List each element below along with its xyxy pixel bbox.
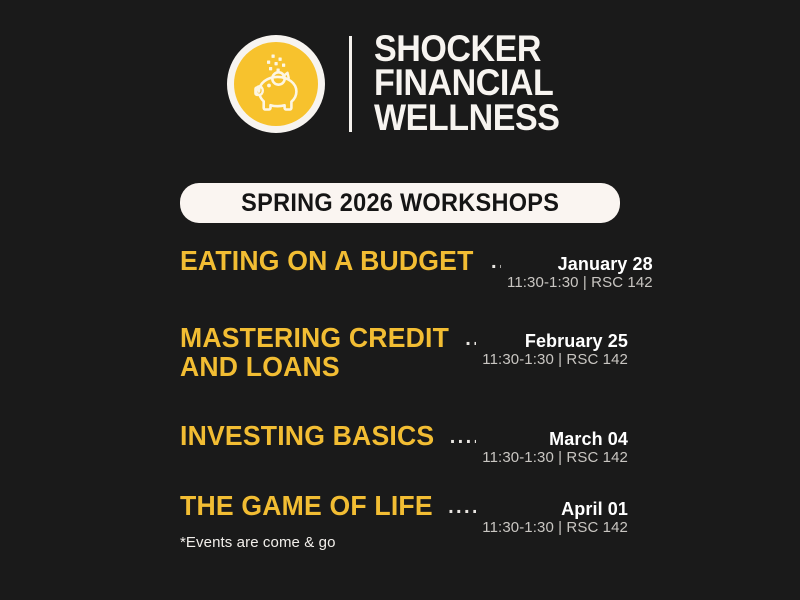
workshop-flyer: SHOCKER FINANCIAL WELLNESS SPRING 2026 W… <box>0 0 800 600</box>
list-item: MASTERING CREDIT AND LOANS .............… <box>180 323 628 381</box>
wordmark-line-1: SHOCKER <box>374 32 559 66</box>
event-time-location: 11:30-1:30 | RSC 142 <box>482 351 628 368</box>
event-title: EATING ON A BUDGET <box>180 246 474 275</box>
event-title: THE GAME OF LIFE <box>180 491 433 520</box>
title-banner: SPRING 2026 WORKSHOPS <box>180 183 620 223</box>
event-time-location: 11:30-1:30 | RSC 142 <box>507 274 653 291</box>
event-title-line-2: AND LOANS <box>180 352 449 381</box>
event-date: January 28 <box>507 255 653 274</box>
brand-wordmark: SHOCKER FINANCIAL WELLNESS <box>374 32 576 135</box>
list-item: INVESTING BASICS ............ March 04 1… <box>180 421 628 466</box>
event-date: April 01 <box>482 500 628 519</box>
event-meta: April 01 11:30-1:30 | RSC 142 <box>482 500 628 536</box>
header-logo-lockup: SHOCKER FINANCIAL WELLNESS <box>0 32 800 135</box>
footnote: *Events are come & go <box>180 534 336 551</box>
event-title: INVESTING BASICS <box>180 421 434 450</box>
event-meta: February 25 11:30-1:30 | RSC 142 <box>482 332 628 368</box>
dot-leader: ........ <box>491 252 501 272</box>
brand-lockup: SHOCKER FINANCIAL WELLNESS <box>225 32 576 135</box>
wordmark-line-3: WELLNESS <box>374 101 559 135</box>
event-date: February 25 <box>482 332 628 351</box>
list-item: EATING ON A BUDGET ........ January 28 1… <box>180 246 628 291</box>
wordmark-line-2: FINANCIAL <box>374 66 559 100</box>
list-item: THE GAME OF LIFE ............. April 01 … <box>180 491 628 536</box>
event-meta: January 28 11:30-1:30 | RSC 142 <box>507 255 653 291</box>
event-meta: March 04 11:30-1:30 | RSC 142 <box>482 430 628 466</box>
event-time-location: 11:30-1:30 | RSC 142 <box>482 519 628 536</box>
dot-leader: ............. <box>448 497 476 517</box>
event-time-location: 11:30-1:30 | RSC 142 <box>482 449 628 466</box>
event-date: March 04 <box>482 430 628 449</box>
banner-title: SPRING 2026 WORKSHOPS <box>241 189 559 218</box>
dot-leader: ...................... <box>465 329 476 349</box>
event-title-line-1: MASTERING CREDIT <box>180 323 449 352</box>
logo-divider <box>349 36 352 132</box>
piggy-bank-icon <box>225 33 327 135</box>
dot-leader: ............ <box>450 427 477 447</box>
